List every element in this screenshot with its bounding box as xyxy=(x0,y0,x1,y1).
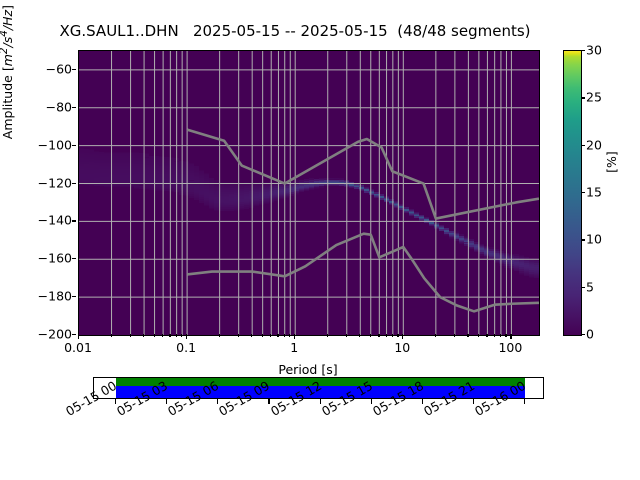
colorbar-label: [%] xyxy=(604,132,619,192)
y-tick-mark xyxy=(72,296,76,297)
x-tick-mark xyxy=(346,334,347,337)
y-tick-label: −200 xyxy=(12,327,72,342)
colorbar-tick-mark xyxy=(581,239,585,240)
y-tick-mark xyxy=(72,145,76,146)
coverage-tick-mark xyxy=(473,399,474,404)
y-tick-label: −140 xyxy=(12,213,72,228)
y-tick-label: −80 xyxy=(12,99,72,114)
colorbar-tick-label: 0 xyxy=(586,327,594,342)
y-tick-mark xyxy=(72,69,76,70)
x-tick-mark xyxy=(478,334,479,337)
colorbar-tick-label: 30 xyxy=(586,43,602,58)
colorbar-tick-label: 5 xyxy=(586,279,594,294)
x-tick-mark xyxy=(327,334,328,337)
x-tick-mark xyxy=(486,334,487,337)
x-tick-mark xyxy=(494,334,495,337)
colorbar-tick-mark xyxy=(581,192,585,193)
plot-gridlines xyxy=(79,51,539,335)
colorbar-tick-mark xyxy=(581,50,585,51)
y-tick-label: −100 xyxy=(12,137,72,152)
y-axis-ticks: −60−80−100−120−140−160−180−200 xyxy=(6,50,72,334)
x-tick-mark xyxy=(467,334,468,337)
x-tick-mark xyxy=(130,334,131,337)
x-tick-mark xyxy=(454,334,455,337)
x-tick-label: 10 xyxy=(394,340,410,355)
noise-model-nlnm xyxy=(187,234,539,312)
x-tick-mark xyxy=(162,334,163,337)
colorbar-tick-label: 25 xyxy=(586,90,602,105)
x-tick-label: 100 xyxy=(498,340,522,355)
x-tick-mark xyxy=(169,334,170,337)
y-tick-mark xyxy=(72,220,76,221)
x-tick-mark xyxy=(505,334,506,337)
y-tick-mark xyxy=(72,107,76,108)
page-title: XG.SAUL1..DHN 2025-05-15 -- 2025-05-15 (… xyxy=(0,22,590,40)
x-tick-mark xyxy=(111,334,112,337)
colorbar-tick-mark xyxy=(581,145,585,146)
x-tick-mark xyxy=(270,334,271,337)
y-tick-label: −180 xyxy=(12,289,72,304)
coverage-tick-mark xyxy=(524,399,525,404)
y-tick-label: −60 xyxy=(12,61,72,76)
y-tick-label: −160 xyxy=(12,251,72,266)
colorbar-tick-mark xyxy=(581,287,585,288)
x-tick-mark xyxy=(238,334,239,337)
x-tick-mark xyxy=(378,334,379,337)
x-tick-mark xyxy=(294,334,295,339)
colorbar-tick-label: 15 xyxy=(586,185,602,200)
ppsd-figure: XG.SAUL1..DHN 2025-05-15 -- 2025-05-15 (… xyxy=(0,0,640,480)
ppsd-plot-area[interactable] xyxy=(78,50,540,336)
colorbar-tick-label: 20 xyxy=(586,137,602,152)
x-tick-mark xyxy=(181,334,182,337)
coverage-tick-mark xyxy=(320,399,321,404)
x-tick-label: 0.01 xyxy=(64,340,92,355)
x-axis-label: Period [s] xyxy=(78,362,538,377)
y-tick-mark xyxy=(72,258,76,259)
ppsd-canvas xyxy=(79,51,539,335)
x-tick-mark xyxy=(359,334,360,337)
x-tick-label: 0.1 xyxy=(176,340,196,355)
coverage-tick-mark xyxy=(371,399,372,404)
colorbar-tick-label: 10 xyxy=(586,232,602,247)
x-tick-mark xyxy=(370,334,371,337)
y-tick-mark xyxy=(72,183,76,184)
coverage-tick-mark xyxy=(422,399,423,404)
x-tick-mark xyxy=(143,334,144,337)
x-tick-mark xyxy=(386,334,387,337)
x-tick-mark xyxy=(500,334,501,337)
x-tick-mark xyxy=(251,334,252,337)
x-tick-mark xyxy=(392,334,393,337)
colorbar-tick-mark xyxy=(581,334,585,335)
x-tick-mark xyxy=(402,334,403,339)
y-tick-mark xyxy=(72,334,76,335)
colorbar[interactable] xyxy=(563,50,582,336)
x-tick-mark xyxy=(289,334,290,337)
x-tick-mark xyxy=(176,334,177,337)
x-tick-mark xyxy=(435,334,436,337)
x-tick-mark xyxy=(277,334,278,337)
x-tick-mark xyxy=(186,334,187,339)
colorbar-tick-mark xyxy=(581,97,585,98)
x-tick-mark xyxy=(78,334,79,339)
coverage-tick-mark xyxy=(268,399,269,404)
x-tick-mark xyxy=(154,334,155,337)
x-tick-mark xyxy=(397,334,398,337)
coverage-tick-mark xyxy=(115,399,116,404)
x-tick-mark xyxy=(510,334,511,339)
x-tick-mark xyxy=(284,334,285,337)
x-tick-mark xyxy=(262,334,263,337)
x-tick-label: 1 xyxy=(290,340,298,355)
x-tick-mark xyxy=(219,334,220,337)
y-tick-label: −120 xyxy=(12,175,72,190)
